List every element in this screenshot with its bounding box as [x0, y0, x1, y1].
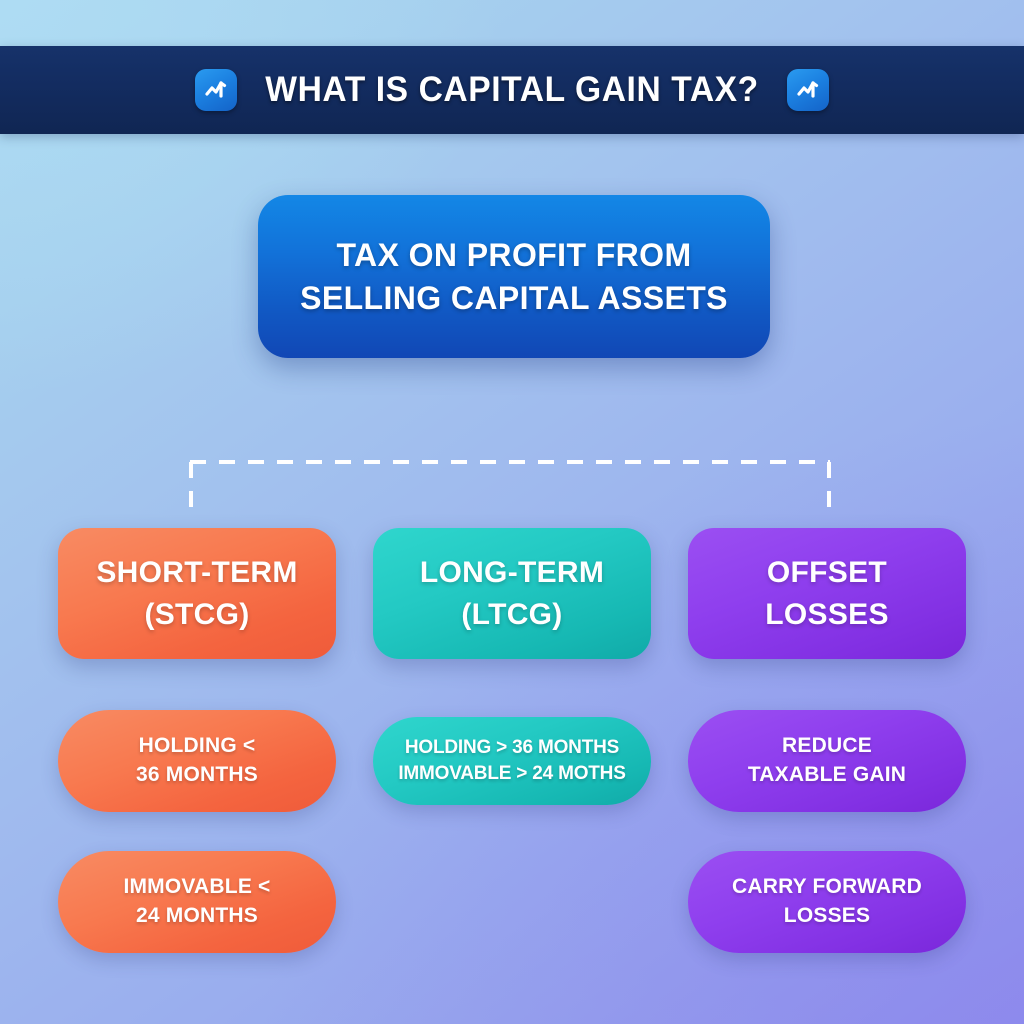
detail-pill-line-1: HOLDING > 36 MONTHS [405, 735, 619, 761]
detail-pill-line-1: REDUCE [782, 732, 872, 761]
page-title: WHAT IS CAPITAL GAIN TAX? [265, 70, 758, 110]
category-title-line-1: LONG-TERM [420, 552, 604, 593]
dashed-connector [0, 430, 1024, 540]
category-columns: SHORT-TERM (STCG) HOLDING < 36 MONTHS IM… [58, 528, 966, 953]
detail-pill-line-2: LOSSES [784, 902, 870, 931]
category-title-line-2: (LTCG) [461, 594, 562, 635]
category-card-short-term[interactable]: SHORT-TERM (STCG) [58, 528, 336, 659]
chart-line-icon [195, 69, 237, 111]
detail-pill-immovable-24-months[interactable]: IMMOVABLE < 24 MONTHS [58, 851, 336, 953]
detail-pill-holding-over-36-months[interactable]: HOLDING > 36 MONTHS IMMOVABLE > 24 MOTHS [373, 717, 651, 805]
category-card-offset-losses[interactable]: OFFSET LOSSES [688, 528, 966, 659]
category-title-line-1: OFFSET [767, 552, 887, 593]
column-offset-losses: OFFSET LOSSES REDUCE TAXABLE GAIN CARRY … [688, 528, 966, 953]
detail-pill-reduce-taxable-gain[interactable]: REDUCE TAXABLE GAIN [688, 710, 966, 812]
detail-pill-line-2: IMMOVABLE > 24 MOTHS [398, 761, 625, 787]
detail-pill-line-2: 36 MONTHS [136, 761, 258, 790]
chart-line-icon [787, 69, 829, 111]
detail-pill-line-1: CARRY FORWARD [732, 873, 922, 902]
detail-pill-holding-36-months[interactable]: HOLDING < 36 MONTHS [58, 710, 336, 812]
category-card-long-term[interactable]: LONG-TERM (LTCG) [373, 528, 651, 659]
detail-pill-line-1: HOLDING < [139, 732, 256, 761]
detail-pill-line-1: IMMOVABLE < [123, 873, 270, 902]
column-long-term: LONG-TERM (LTCG) HOLDING > 36 MONTHS IMM… [373, 528, 651, 953]
main-definition-box: TAX ON PROFIT FROM SELLING CAPITAL ASSET… [258, 195, 770, 358]
detail-pill-carry-forward-losses[interactable]: CARRY FORWARD LOSSES [688, 851, 966, 953]
category-title-line-2: LOSSES [765, 594, 889, 635]
column-short-term: SHORT-TERM (STCG) HOLDING < 36 MONTHS IM… [58, 528, 336, 953]
category-title-line-2: (STCG) [144, 594, 249, 635]
category-title-line-1: SHORT-TERM [96, 552, 297, 593]
main-definition-line-2: SELLING CAPITAL ASSETS [300, 277, 728, 319]
header-bar: WHAT IS CAPITAL GAIN TAX? [0, 46, 1024, 134]
detail-pill-line-2: TAXABLE GAIN [748, 761, 906, 790]
main-definition-line-1: TAX ON PROFIT FROM [336, 234, 691, 276]
detail-pill-line-2: 24 MONTHS [136, 902, 258, 931]
